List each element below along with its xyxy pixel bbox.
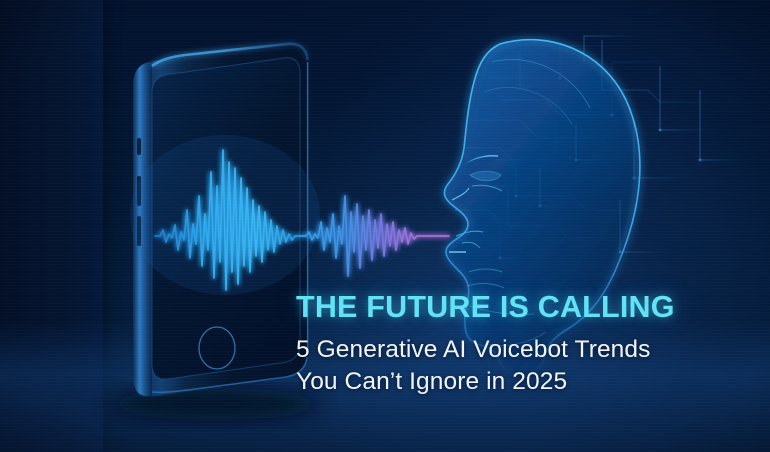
headline-text-block: THE FUTURE IS CALLING 5 Generative AI Vo…: [296, 292, 716, 398]
subtitle-block: 5 Generative AI Voicebot Trends You Can’…: [296, 334, 716, 399]
subtitle-line-2: You Can’t Ignore in 2025: [296, 366, 716, 398]
page-title: THE FUTURE IS CALLING: [296, 292, 716, 323]
subtitle-line-1: 5 Generative AI Voicebot Trends: [296, 334, 716, 366]
banner-root: THE FUTURE IS CALLING 5 Generative AI Vo…: [0, 0, 770, 452]
